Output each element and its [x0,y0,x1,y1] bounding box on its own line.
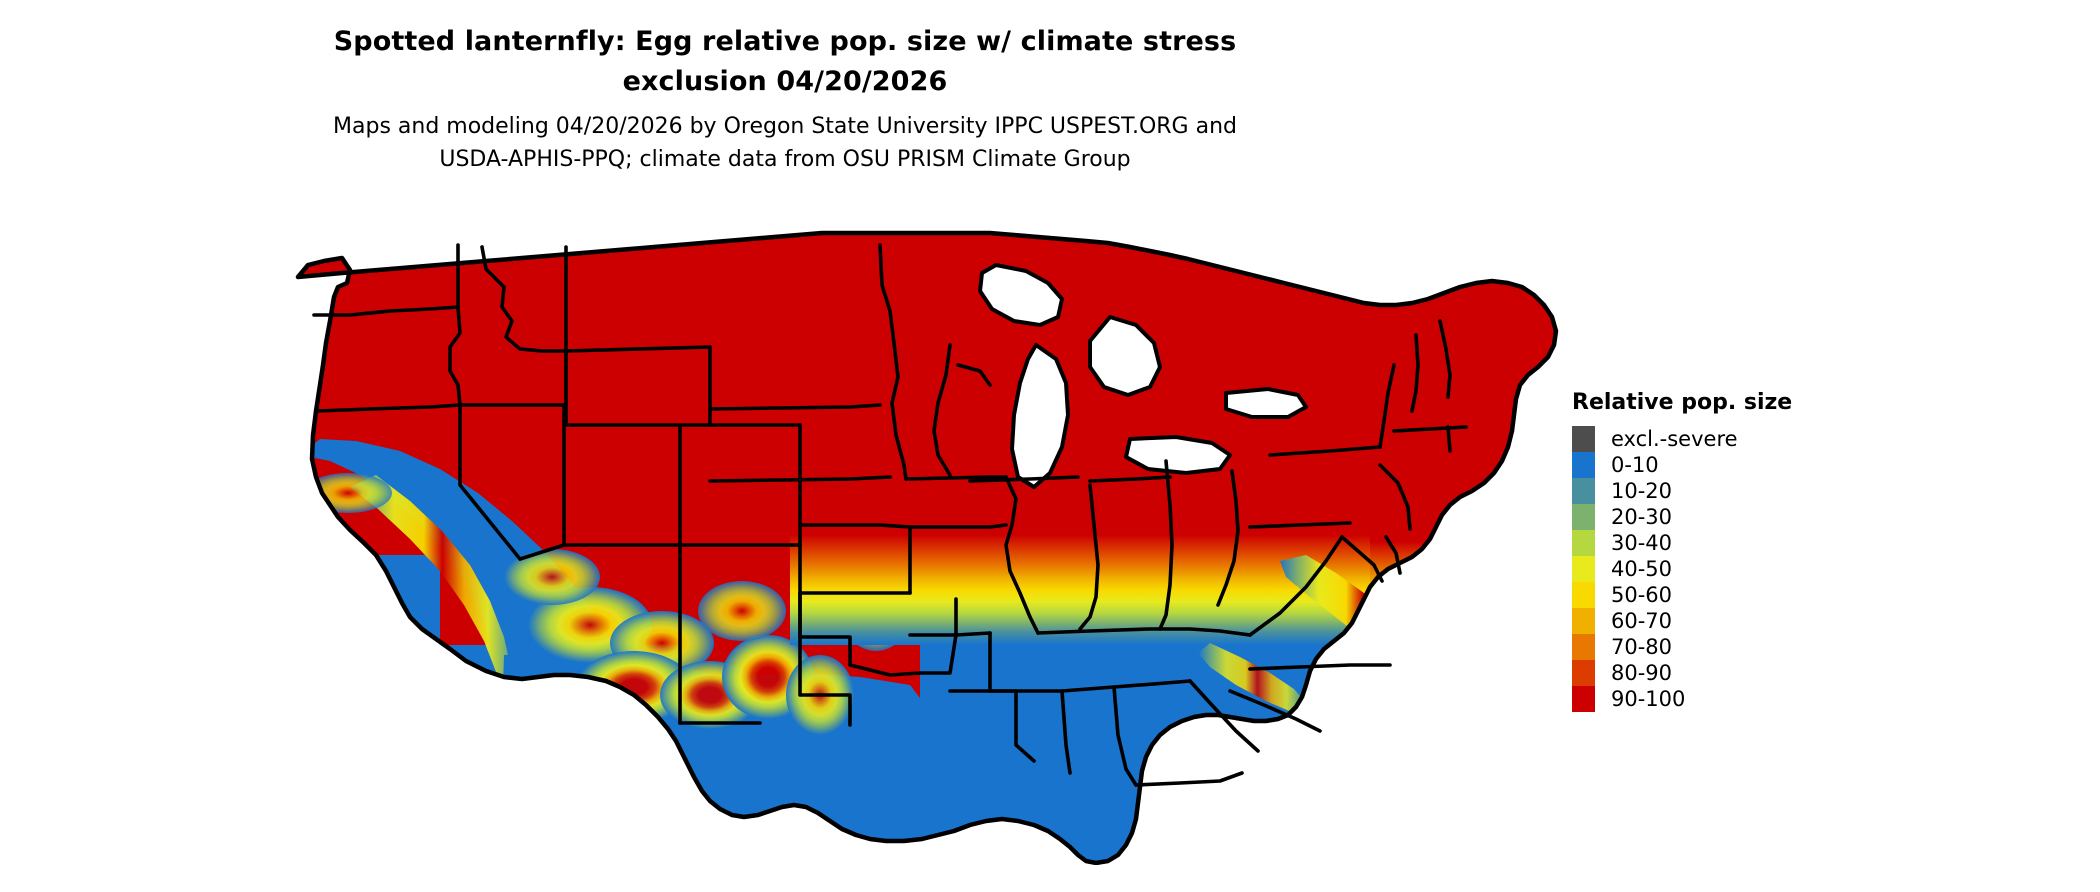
legend-swatch-90-100 [1572,686,1595,712]
map-raster-layer [290,225,1560,865]
legend-label-10-20: 10-20 [1611,478,1672,504]
legend-item-30-40[interactable]: 30-40 [1572,530,1892,556]
legend-label-excl-severe: excl.-severe [1611,426,1738,452]
legend-item-70-80[interactable]: 70-80 [1572,634,1892,660]
legend-label-90-100: 90-100 [1611,686,1685,712]
map-subtitle: Maps and modeling 04/20/2026 by Oregon S… [0,102,1570,176]
legend-swatch-30-40 [1572,530,1595,556]
legend-item-0-10[interactable]: 0-10 [1572,452,1892,478]
map-transition-band-northeast [1370,525,1560,645]
map-transition-band-east [790,517,1560,645]
us-choropleth-map [290,225,1560,865]
legend-item-80-90[interactable]: 80-90 [1572,660,1892,686]
legend-swatch-50-60 [1572,582,1595,608]
map-figure [290,225,1560,865]
legend-title: Relative pop. size [1572,390,1892,416]
legend-swatch-40-50 [1572,556,1595,582]
page-title: Spotted lanternfly: Egg relative pop. si… [0,22,1570,102]
legend-swatch-20-30 [1572,504,1595,530]
legend-label-50-60: 50-60 [1611,582,1672,608]
map-ut-mountains [698,581,786,641]
legend-swatch-70-80 [1572,634,1595,660]
legend-swatch-80-90 [1572,660,1595,686]
legend-item-50-60[interactable]: 50-60 [1572,582,1892,608]
legend-label-40-50: 40-50 [1611,556,1672,582]
legend-label-30-40: 30-40 [1611,530,1672,556]
map-transition-band-midatlantic [1440,543,1560,661]
legend-label-60-70: 60-70 [1611,608,1672,634]
legend-item-60-70[interactable]: 60-70 [1572,608,1892,634]
legend-swatch-excl-severe [1572,426,1595,452]
legend-label-70-80: 70-80 [1611,634,1672,660]
legend-item-90-100[interactable]: 90-100 [1572,686,1892,712]
legend-swatch-60-70 [1572,608,1595,634]
map-header: Spotted lanternfly: Egg relative pop. si… [0,0,1570,176]
legend-swatch-0-10 [1572,452,1595,478]
map-legend: Relative pop. size excl.-severe 0-10 10-… [1572,390,1892,712]
legend-label-20-30: 20-30 [1611,504,1672,530]
legend-item-10-20[interactable]: 10-20 [1572,478,1892,504]
legend-label-0-10: 0-10 [1611,452,1659,478]
legend-item-excl-severe[interactable]: excl.-severe [1572,426,1892,452]
legend-label-80-90: 80-90 [1611,660,1672,686]
legend-swatch-10-20 [1572,478,1595,504]
legend-item-40-50[interactable]: 40-50 [1572,556,1892,582]
legend-item-20-30[interactable]: 20-30 [1572,504,1892,530]
